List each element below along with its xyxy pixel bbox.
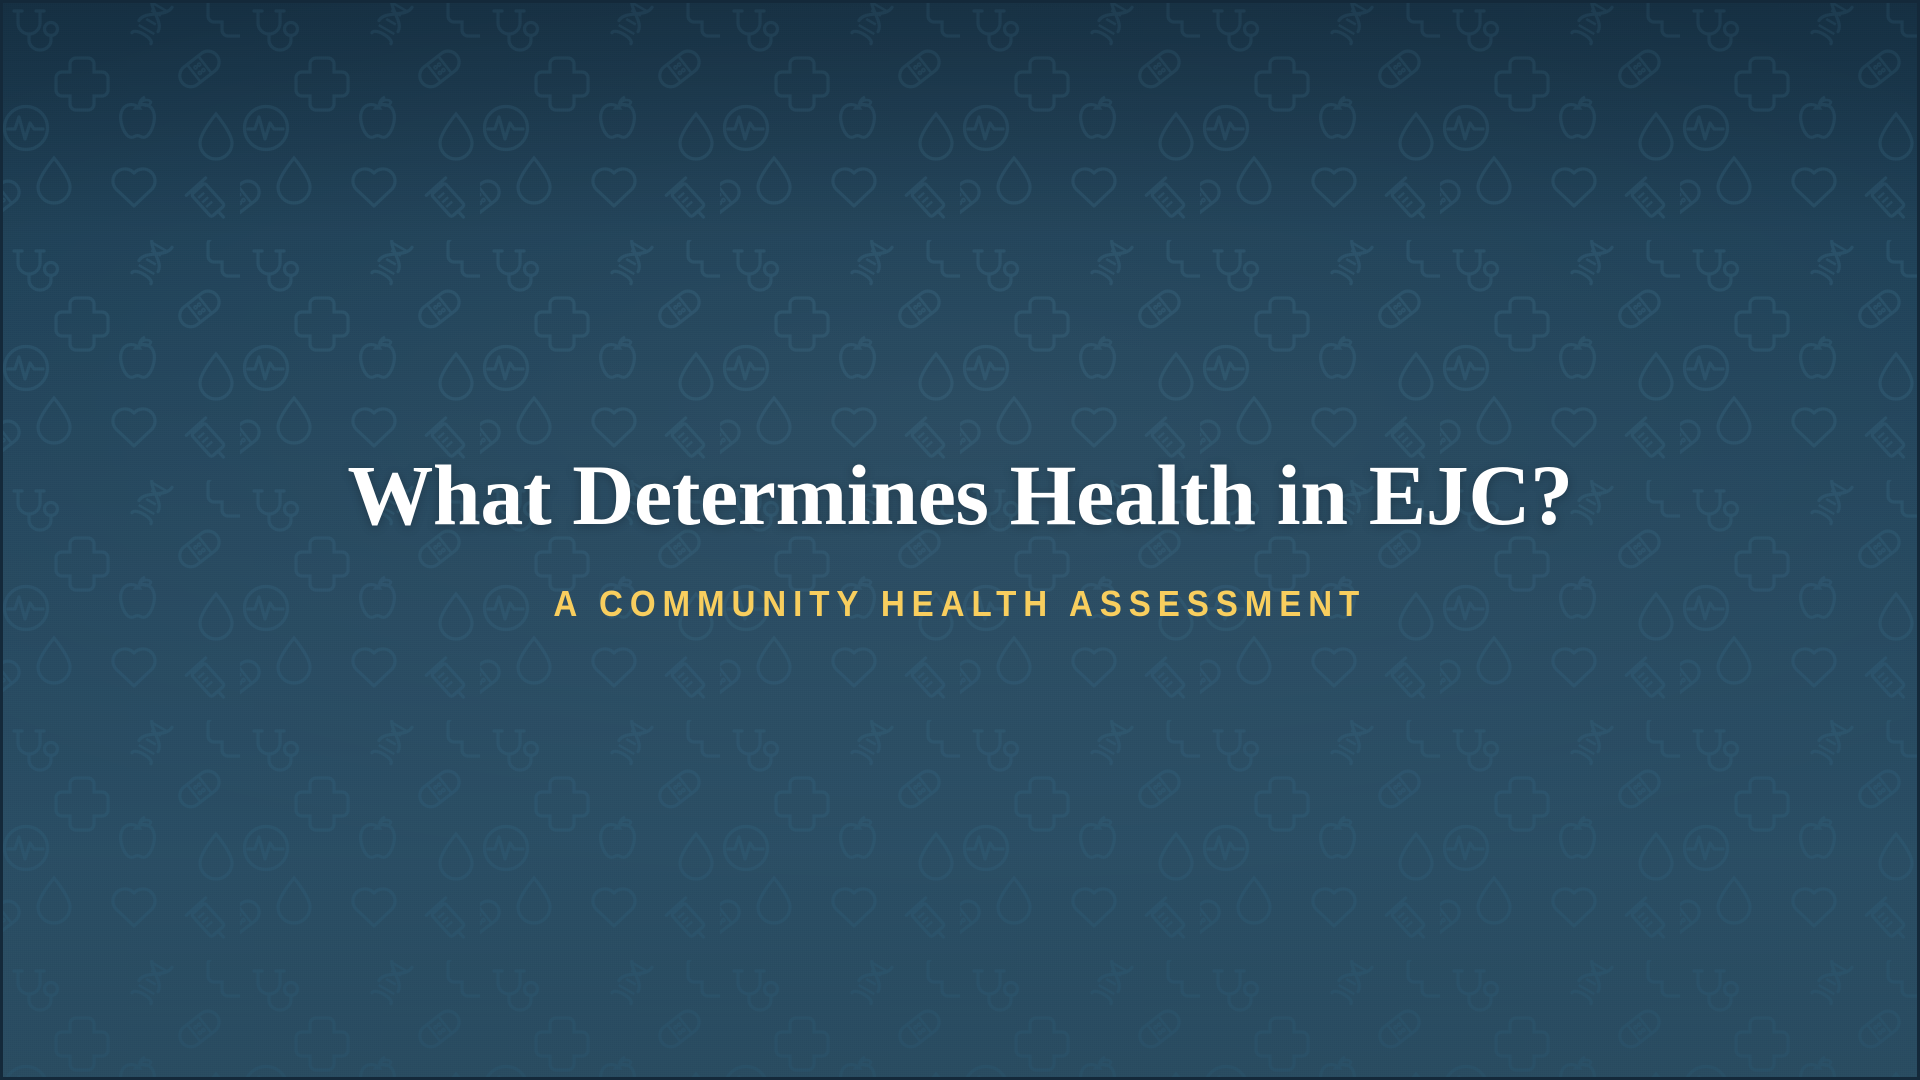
slide-content: What Determines Health in EJC? A COMMUNI…: [0, 0, 1920, 1080]
title-slide: What Determines Health in EJC? A COMMUNI…: [0, 0, 1920, 1080]
slide-subtitle: A COMMUNITY HEALTH ASSESSMENT: [554, 586, 1367, 622]
page-title: What Determines Health in EJC?: [347, 450, 1572, 540]
